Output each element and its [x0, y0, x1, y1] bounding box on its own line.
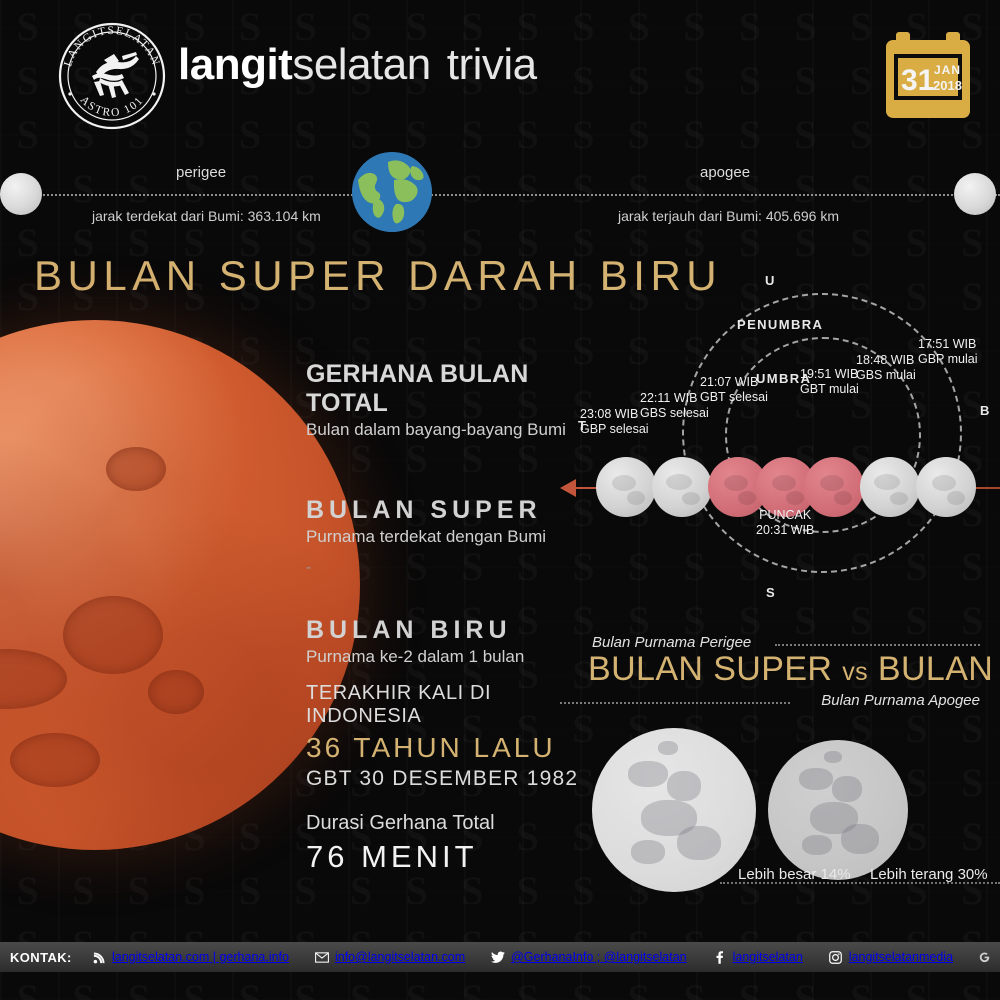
instagram-icon — [829, 950, 843, 964]
eclipse-moon-1 — [652, 457, 712, 517]
phase-time: 21:07 WIB — [700, 375, 768, 390]
peak-label: PUNCAK 20:31 WIB — [756, 508, 814, 538]
fact-subtitle: Purnama ke-2 dalam 1 bulan — [306, 647, 596, 667]
cardinal-east: B — [980, 403, 990, 418]
perigee-apogee-bar: perigee jarak terdekat dari Bumi: 363.10… — [0, 150, 1000, 250]
contact-email[interactable]: info@langitselatan.com — [315, 950, 465, 964]
phase-event: GBS selesai — [640, 406, 709, 421]
perigee-distance: jarak terdekat dari Bumi: 363.104 km — [92, 208, 321, 224]
svg-text:31: 31 — [901, 64, 934, 97]
orbit-dotted-line — [0, 194, 1000, 196]
contact-googleplus[interactable]: +LangitselatanMedia — [979, 950, 1000, 964]
phase-label-3: 19:51 WIB GBT mulai — [800, 367, 859, 397]
contact-instagram[interactable]: langitselatanmedia — [829, 950, 953, 964]
fact-list: GERHANA BULAN TOTAL Bulan dalam bayang-b… — [306, 360, 596, 667]
eclipse-moon-0 — [596, 457, 656, 517]
title-vs: vs — [842, 658, 868, 686]
fact-dash: - — [306, 559, 596, 576]
brand-wordmark: langitselatantrivia — [178, 40, 537, 90]
phase-event: GBS mulai — [856, 368, 916, 383]
fact-subtitle: Purnama terdekat dengan Bumi — [306, 527, 596, 547]
phase-label-1: 22:11 WIB GBS selesai — [640, 391, 709, 421]
apogee-note: Bulan Purnama Apogee — [821, 692, 980, 709]
cardinal-north: U — [765, 273, 775, 288]
calendar-icon: 31 JAN 2018 — [884, 30, 972, 126]
perigee-moon-icon — [0, 173, 42, 215]
eclipse-direction-arrow-icon — [560, 479, 576, 497]
super-vs-mini-section: Bulan Purnama Perigee BULAN SUPER vs BUL… — [560, 630, 1000, 910]
contact-twitter[interactable]: @GerhanaInfo ; @langitselatan — [491, 950, 686, 964]
contact-items: langitselatan.com | gerhana.info info@la… — [92, 942, 1000, 972]
apogee-label: apogee — [700, 164, 750, 181]
rss-icon — [92, 950, 106, 964]
contact-website[interactable]: langitselatan.com | gerhana.info — [92, 950, 289, 964]
apogee-moon-icon — [954, 173, 996, 215]
svg-text:2018: 2018 — [933, 78, 962, 93]
peak-time: 20:31 WIB — [756, 523, 814, 538]
twitter-icon — [491, 950, 505, 964]
fact-title: BULAN BIRU — [306, 616, 596, 645]
phase-time: 22:11 WIB — [640, 391, 709, 406]
contact-facebook-text: langitselatan — [733, 950, 803, 964]
title-a: BULAN SUPER — [588, 650, 832, 688]
phase-event: GBT selesai — [700, 390, 768, 405]
apogee-distance: jarak terjauh dari Bumi: 405.696 km — [618, 208, 839, 224]
super-vs-mini-title: BULAN SUPER vs BULAN MINI — [588, 650, 1000, 689]
title-b: BULAN MINI — [878, 650, 1000, 688]
mail-icon — [315, 950, 329, 964]
eclipse-moon-4 — [860, 457, 920, 517]
phase-time: 18:48 WIB — [856, 353, 916, 368]
stat-brighter: Lebih terang 30% — [870, 866, 988, 883]
super-moon-graphic — [592, 728, 756, 892]
fact-item-1: BULAN SUPER Purnama terdekat dengan Bumi… — [306, 496, 596, 576]
phase-event: GBP mulai — [918, 352, 978, 367]
phase-event: GBT mulai — [800, 382, 859, 397]
contact-email-text: info@langitselatan.com — [335, 950, 465, 964]
fact-title: GERHANA BULAN TOTAL — [306, 360, 596, 418]
phase-time: 17:51 WIB — [918, 337, 978, 352]
fact-item-0: GERHANA BULAN TOTAL Bulan dalam bayang-b… — [306, 360, 596, 440]
phase-label-4: 18:48 WIB GBS mulai — [856, 353, 916, 383]
googleplus-icon — [979, 950, 995, 964]
perigee-label: perigee — [176, 164, 226, 181]
phase-time: 23:08 WIB — [580, 407, 649, 422]
brand-suffix: trivia — [447, 40, 537, 89]
phase-event: GBP selesai — [580, 422, 649, 437]
cardinal-south: S — [766, 585, 776, 600]
fact-subtitle: Bulan dalam bayang-bayang Bumi — [306, 420, 596, 440]
eclipse-diagram: U S T B PENUMBRA UMBRA 23:08 WIB GBP sel… — [560, 275, 1000, 610]
phase-label-5: 17:51 WIB GBP mulai — [918, 337, 978, 367]
contact-twitter-text: @GerhanaInfo ; @langitselatan — [511, 950, 686, 964]
contact-instagram-text: langitselatanmedia — [849, 950, 953, 964]
contact-label: KONTAK: — [10, 942, 72, 972]
perigee-note: Bulan Purnama Perigee — [592, 634, 751, 651]
header: LANGITSELATAN ASTRO 101 langitselatantri… — [0, 0, 1000, 140]
eclipse-moon-5 — [916, 457, 976, 517]
brand-bold: langit — [178, 40, 292, 89]
fact-item-2: BULAN BIRU Purnama ke-2 dalam 1 bulan — [306, 616, 596, 667]
contact-website-text: langitselatan.com | gerhana.info — [112, 950, 289, 964]
facebook-icon — [713, 950, 727, 964]
contact-facebook[interactable]: langitselatan — [713, 950, 803, 964]
earth-globe-icon — [352, 152, 432, 232]
phase-label-2: 21:07 WIB GBT selesai — [700, 375, 768, 405]
bottom-dotted-rule — [560, 702, 790, 704]
brand-light: selatan — [292, 40, 430, 89]
stat-bigger: Lebih besar 14% — [738, 866, 851, 883]
langitselatan-seal-logo: LANGITSELATAN ASTRO 101 — [52, 16, 172, 136]
peak-text: PUNCAK — [756, 508, 814, 523]
phase-time: 19:51 WIB — [800, 367, 859, 382]
fact-title: BULAN SUPER — [306, 496, 596, 525]
svg-text:JAN: JAN — [934, 63, 961, 77]
mini-moon-graphic — [768, 740, 908, 880]
phase-label-0: 23:08 WIB GBP selesai — [580, 407, 649, 437]
top-dotted-rule — [775, 644, 980, 646]
penumbra-label: PENUMBRA — [737, 317, 823, 332]
